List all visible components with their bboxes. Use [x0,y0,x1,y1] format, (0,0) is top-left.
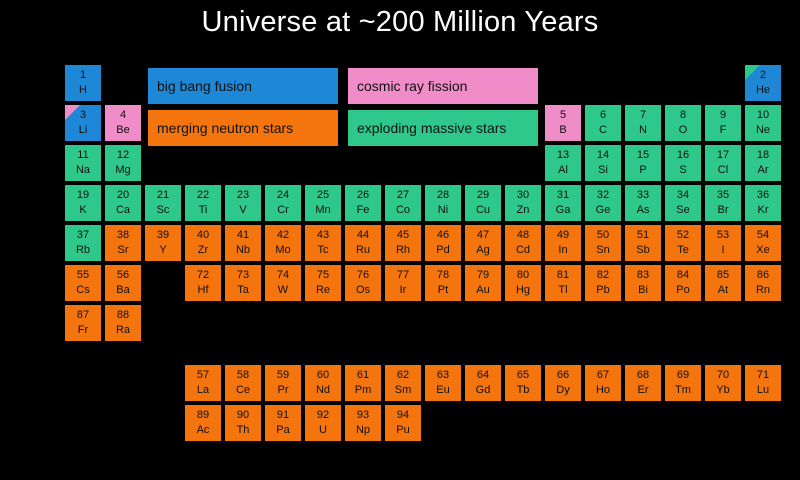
atomic-number: 20 [105,190,141,201]
element-symbol: Sc [145,205,181,216]
element-cell-la[interactable]: 57La [185,365,221,401]
element-cell-tc[interactable]: 43Tc [305,225,341,261]
element-cell-ga[interactable]: 31Ga [545,185,581,221]
atomic-number: 40 [185,230,221,241]
atomic-number: 9 [705,110,741,121]
element-symbol: Rh [385,245,421,256]
atomic-number: 79 [465,270,501,281]
atomic-number: 86 [745,270,781,281]
atomic-number: 23 [225,190,261,201]
element-cell-ti[interactable]: 22Ti [185,185,221,221]
element-symbol: Pt [425,285,461,296]
atomic-number: 38 [105,230,141,241]
element-symbol: Te [665,245,701,256]
element-cell-te[interactable]: 52Te [665,225,701,261]
element-symbol: Ni [425,205,461,216]
element-cell-as[interactable]: 33As [625,185,661,221]
element-symbol: Nd [305,385,341,396]
element-cell-ni[interactable]: 28Ni [425,185,461,221]
atomic-number: 21 [145,190,181,201]
element-cell-ta[interactable]: 73Ta [225,265,261,301]
atomic-number: 53 [705,230,741,241]
atomic-number: 75 [305,270,341,281]
element-symbol: Os [345,285,381,296]
element-cell-cs[interactable]: 55Cs [65,265,101,301]
element-symbol: Ga [545,205,581,216]
atomic-number: 36 [745,190,781,201]
element-cell-i[interactable]: 53I [705,225,741,261]
element-cell-er[interactable]: 68Er [625,365,661,401]
element-symbol: Ir [385,285,421,296]
atomic-number: 2 [745,70,781,81]
element-symbol: Sb [625,245,661,256]
element-symbol: C [585,125,621,136]
atomic-number: 11 [65,150,101,161]
element-symbol: At [705,285,741,296]
element-cell-xe[interactable]: 54Xe [745,225,781,261]
legend-exploding-massive-stars: exploding massive stars [348,110,538,146]
element-cell-au[interactable]: 79Au [465,265,501,301]
element-cell-n[interactable]: 7N [625,105,661,141]
element-symbol: Ag [465,245,501,256]
element-symbol: Pd [425,245,461,256]
atomic-number: 61 [345,370,381,381]
atomic-number: 6 [585,110,621,121]
atomic-number: 27 [385,190,421,201]
element-symbol: Dy [545,385,581,396]
element-symbol: K [65,205,101,216]
legend-big-bang-fusion: big bang fusion [148,68,338,104]
atomic-number: 64 [465,370,501,381]
element-symbol: Si [585,165,621,176]
element-cell-pb[interactable]: 82Pb [585,265,621,301]
element-symbol: Zn [505,205,541,216]
element-cell-ru[interactable]: 44Ru [345,225,381,261]
element-symbol: Mn [305,205,341,216]
element-symbol: Al [545,165,581,176]
atomic-number: 70 [705,370,741,381]
atomic-number: 52 [665,230,701,241]
atomic-number: 58 [225,370,261,381]
element-cell-np[interactable]: 93Np [345,405,381,441]
element-symbol: N [625,125,661,136]
element-symbol: Pb [585,285,621,296]
element-cell-pm[interactable]: 61Pm [345,365,381,401]
element-cell-sm[interactable]: 62Sm [385,365,421,401]
atomic-number: 84 [665,270,701,281]
element-cell-be[interactable]: 4Be [105,105,141,141]
element-symbol: Ru [345,245,381,256]
atomic-number: 24 [265,190,301,201]
element-cell-he[interactable]: 2He [745,65,781,101]
element-cell-tl[interactable]: 81Tl [545,265,581,301]
element-cell-zn[interactable]: 30Zn [505,185,541,221]
element-symbol: B [545,125,581,136]
element-symbol: Eu [425,385,461,396]
element-symbol: Sr [105,245,141,256]
atomic-number: 7 [625,110,661,121]
element-symbol: H [65,85,101,96]
element-cell-na[interactable]: 11Na [65,145,101,181]
element-cell-br[interactable]: 35Br [705,185,741,221]
element-cell-fr[interactable]: 87Fr [65,305,101,341]
element-symbol: Mo [265,245,301,256]
atomic-number: 91 [265,410,301,421]
element-cell-ac[interactable]: 89Ac [185,405,221,441]
element-symbol: Ce [225,385,261,396]
element-symbol: Co [385,205,421,216]
element-cell-nb[interactable]: 41Nb [225,225,261,261]
element-cell-lu[interactable]: 71Lu [745,365,781,401]
element-cell-pa[interactable]: 91Pa [265,405,301,441]
element-symbol: Ta [225,285,261,296]
element-cell-pu[interactable]: 94Pu [385,405,421,441]
element-cell-zr[interactable]: 40Zr [185,225,221,261]
element-symbol: Hf [185,285,221,296]
element-symbol: Rb [65,245,101,256]
atomic-number: 18 [745,150,781,161]
element-cell-co[interactable]: 27Co [385,185,421,221]
atomic-number: 83 [625,270,661,281]
atomic-number: 94 [385,410,421,421]
element-cell-b[interactable]: 5B [545,105,581,141]
element-symbol: Cd [505,245,541,256]
element-cell-pt[interactable]: 78Pt [425,265,461,301]
element-symbol: Nb [225,245,261,256]
element-symbol: Be [105,125,141,136]
element-cell-ag[interactable]: 47Ag [465,225,501,261]
atomic-number: 60 [305,370,341,381]
element-cell-cd[interactable]: 48Cd [505,225,541,261]
atomic-number: 76 [345,270,381,281]
element-cell-yb[interactable]: 70Yb [705,365,741,401]
element-cell-al[interactable]: 13Al [545,145,581,181]
atomic-number: 82 [585,270,621,281]
element-cell-cr[interactable]: 24Cr [265,185,301,221]
atomic-number: 67 [585,370,621,381]
element-cell-gd[interactable]: 64Gd [465,365,501,401]
atomic-number: 29 [465,190,501,201]
element-symbol: Re [305,285,341,296]
element-symbol: Ti [185,205,221,216]
element-cell-f[interactable]: 9F [705,105,741,141]
element-symbol: Y [145,245,181,256]
element-cell-hg[interactable]: 80Hg [505,265,541,301]
atomic-number: 14 [585,150,621,161]
element-cell-mn[interactable]: 25Mn [305,185,341,221]
element-symbol: Xe [745,245,781,256]
element-symbol: Fr [65,325,101,336]
atomic-number: 42 [265,230,301,241]
element-symbol: Tc [305,245,341,256]
legend-merging-neutron-stars: merging neutron stars [148,110,338,146]
element-symbol: Po [665,285,701,296]
atomic-number: 54 [745,230,781,241]
atomic-number: 88 [105,310,141,321]
atomic-number: 69 [665,370,701,381]
atomic-number: 3 [65,110,101,121]
element-symbol: Np [345,425,381,436]
element-symbol: S [665,165,701,176]
element-cell-cl[interactable]: 17Cl [705,145,741,181]
element-cell-s[interactable]: 16S [665,145,701,181]
legend-cosmic-ray-fission: cosmic ray fission [348,68,538,104]
atomic-number: 51 [625,230,661,241]
atomic-number: 41 [225,230,261,241]
element-symbol: Au [465,285,501,296]
element-symbol: Na [65,165,101,176]
atomic-number: 78 [425,270,461,281]
element-cell-eu[interactable]: 63Eu [425,365,461,401]
atomic-number: 73 [225,270,261,281]
element-cell-at[interactable]: 85At [705,265,741,301]
legend-label: big bang fusion [157,78,252,94]
element-cell-w[interactable]: 74W [265,265,301,301]
atomic-number: 26 [345,190,381,201]
element-cell-pd[interactable]: 46Pd [425,225,461,261]
atomic-number: 47 [465,230,501,241]
element-cell-tb[interactable]: 65Tb [505,365,541,401]
element-cell-hf[interactable]: 72Hf [185,265,221,301]
atomic-number: 48 [505,230,541,241]
element-cell-po[interactable]: 84Po [665,265,701,301]
element-symbol: As [625,205,661,216]
element-cell-ca[interactable]: 20Ca [105,185,141,221]
element-symbol: Ar [745,165,781,176]
element-cell-sb[interactable]: 51Sb [625,225,661,261]
element-symbol: Cu [465,205,501,216]
element-symbol: F [705,125,741,136]
element-symbol: Sn [585,245,621,256]
element-symbol: Pu [385,425,421,436]
atomic-number: 32 [585,190,621,201]
element-cell-c[interactable]: 6C [585,105,621,141]
atomic-number: 92 [305,410,341,421]
element-symbol: Ne [745,125,781,136]
element-cell-tm[interactable]: 69Tm [665,365,701,401]
atomic-number: 72 [185,270,221,281]
atomic-number: 93 [345,410,381,421]
element-cell-ne[interactable]: 10Ne [745,105,781,141]
element-cell-k[interactable]: 19K [65,185,101,221]
atomic-number: 1 [65,70,101,81]
atomic-number: 49 [545,230,581,241]
element-symbol: Gd [465,385,501,396]
atomic-number: 68 [625,370,661,381]
element-cell-ce[interactable]: 58Ce [225,365,261,401]
element-cell-y[interactable]: 39Y [145,225,181,261]
atomic-number: 12 [105,150,141,161]
atomic-number: 65 [505,370,541,381]
element-symbol: Hg [505,285,541,296]
element-symbol: Cl [705,165,741,176]
atomic-number: 89 [185,410,221,421]
atomic-number: 55 [65,270,101,281]
element-cell-se[interactable]: 34Se [665,185,701,221]
atomic-number: 81 [545,270,581,281]
element-symbol: Tm [665,385,701,396]
atomic-number: 56 [105,270,141,281]
element-cell-nd[interactable]: 60Nd [305,365,341,401]
element-cell-ra[interactable]: 88Ra [105,305,141,341]
atomic-number: 15 [625,150,661,161]
atomic-number: 33 [625,190,661,201]
element-cell-u[interactable]: 92U [305,405,341,441]
atomic-number: 50 [585,230,621,241]
element-symbol: Ra [105,325,141,336]
element-cell-rb[interactable]: 37Rb [65,225,101,261]
element-cell-sr[interactable]: 38Sr [105,225,141,261]
element-symbol: Bi [625,285,661,296]
element-cell-bi[interactable]: 83Bi [625,265,661,301]
element-symbol: Yb [705,385,741,396]
element-symbol: Zr [185,245,221,256]
element-symbol: Cr [265,205,301,216]
element-symbol: Rn [745,285,781,296]
element-symbol: Br [705,205,741,216]
element-cell-rh[interactable]: 45Rh [385,225,421,261]
atomic-number: 57 [185,370,221,381]
element-cell-in[interactable]: 49In [545,225,581,261]
element-cell-v[interactable]: 23V [225,185,261,221]
element-cell-ge[interactable]: 32Ge [585,185,621,221]
element-symbol: Ho [585,385,621,396]
atomic-number: 46 [425,230,461,241]
element-symbol: U [305,425,341,436]
element-symbol: Th [225,425,261,436]
element-symbol: Mg [105,165,141,176]
element-symbol: Pm [345,385,381,396]
element-symbol: Se [665,205,701,216]
element-cell-os[interactable]: 76Os [345,265,381,301]
atomic-number: 62 [385,370,421,381]
atomic-number: 43 [305,230,341,241]
element-cell-dy[interactable]: 66Dy [545,365,581,401]
atomic-number: 39 [145,230,181,241]
element-symbol: Ca [105,205,141,216]
element-cell-cu[interactable]: 29Cu [465,185,501,221]
atomic-number: 25 [305,190,341,201]
element-symbol: Ge [585,205,621,216]
legend-label: cosmic ray fission [357,78,467,94]
element-symbol: Ac [185,425,221,436]
atomic-number: 28 [425,190,461,201]
atomic-number: 4 [105,110,141,121]
element-symbol: Cs [65,285,101,296]
element-symbol: I [705,245,741,256]
element-symbol: W [265,285,301,296]
element-symbol: Lu [745,385,781,396]
element-symbol: P [625,165,661,176]
atomic-number: 19 [65,190,101,201]
element-cell-li[interactable]: 3Li [65,105,101,141]
atomic-number: 34 [665,190,701,201]
atomic-number: 63 [425,370,461,381]
atomic-number: 5 [545,110,581,121]
atomic-number: 74 [265,270,301,281]
element-cell-pr[interactable]: 59Pr [265,365,301,401]
legend-label: merging neutron stars [157,120,293,136]
periodic-table-grid: 1H2He3Li4Be5B6C7N8O9F10Ne11Na12Mg13Al14S… [0,0,800,480]
element-cell-mo[interactable]: 42Mo [265,225,301,261]
legend-label: exploding massive stars [357,120,506,136]
element-cell-fe[interactable]: 26Fe [345,185,381,221]
atomic-number: 22 [185,190,221,201]
atomic-number: 8 [665,110,701,121]
atomic-number: 30 [505,190,541,201]
element-cell-mg[interactable]: 12Mg [105,145,141,181]
atomic-number: 85 [705,270,741,281]
atomic-number: 71 [745,370,781,381]
atomic-number: 17 [705,150,741,161]
element-cell-ba[interactable]: 56Ba [105,265,141,301]
element-symbol: Pa [265,425,301,436]
element-cell-ir[interactable]: 77Ir [385,265,421,301]
element-cell-p[interactable]: 15P [625,145,661,181]
atomic-number: 59 [265,370,301,381]
periodic-table-figure: Universe at ~200 Million Years 1H2He3Li4… [0,0,800,480]
element-cell-h[interactable]: 1H [65,65,101,101]
atomic-number: 37 [65,230,101,241]
element-symbol: O [665,125,701,136]
element-symbol: Sm [385,385,421,396]
element-cell-si[interactable]: 14Si [585,145,621,181]
atomic-number: 45 [385,230,421,241]
element-symbol: Kr [745,205,781,216]
atomic-number: 35 [705,190,741,201]
atomic-number: 87 [65,310,101,321]
element-symbol: Tl [545,285,581,296]
element-cell-th[interactable]: 90Th [225,405,261,441]
element-symbol: La [185,385,221,396]
element-symbol: Ba [105,285,141,296]
atomic-number: 66 [545,370,581,381]
element-symbol: He [745,85,781,96]
element-cell-o[interactable]: 8O [665,105,701,141]
element-symbol: Li [65,125,101,136]
element-symbol: Pr [265,385,301,396]
atomic-number: 13 [545,150,581,161]
atomic-number: 77 [385,270,421,281]
atomic-number: 16 [665,150,701,161]
element-cell-re[interactable]: 75Re [305,265,341,301]
element-symbol: V [225,205,261,216]
element-cell-rn[interactable]: 86Rn [745,265,781,301]
element-cell-ar[interactable]: 18Ar [745,145,781,181]
element-symbol: In [545,245,581,256]
element-cell-ho[interactable]: 67Ho [585,365,621,401]
atomic-number: 90 [225,410,261,421]
atomic-number: 10 [745,110,781,121]
element-symbol: Tb [505,385,541,396]
atomic-number: 31 [545,190,581,201]
atomic-number: 80 [505,270,541,281]
element-symbol: Fe [345,205,381,216]
element-symbol: Er [625,385,661,396]
element-cell-sn[interactable]: 50Sn [585,225,621,261]
element-cell-sc[interactable]: 21Sc [145,185,181,221]
atomic-number: 44 [345,230,381,241]
element-cell-kr[interactable]: 36Kr [745,185,781,221]
